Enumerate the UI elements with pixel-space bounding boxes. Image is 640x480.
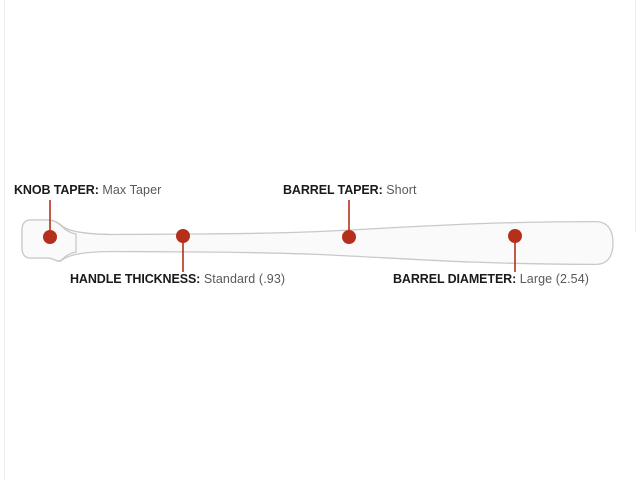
marker-dot-barrel-diameter[interactable] (508, 229, 522, 243)
callout-label-barrel-diameter: BARREL DIAMETER: Large (2.54) (393, 272, 589, 286)
callout-value-barrel-diameter: Large (2.54) (520, 272, 589, 286)
callout-label-handle-thickness: HANDLE THICKNESS: Standard (.93) (70, 272, 285, 286)
callout-label-barrel-taper: BARREL TAPER: Short (283, 183, 417, 197)
callout-key-knob-taper: KNOB TAPER: (14, 183, 99, 197)
callout-value-barrel-taper: Short (386, 183, 416, 197)
callout-key-barrel-taper: BARREL TAPER: (283, 183, 383, 197)
callout-value-knob-taper: Max Taper (102, 183, 161, 197)
bat-outline-path (22, 220, 613, 264)
bat-silhouette (22, 220, 613, 264)
marker-dot-barrel-taper[interactable] (342, 230, 356, 244)
callout-key-handle-thickness: HANDLE THICKNESS: (70, 272, 200, 286)
bat-spec-diagram-canvas: KNOB TAPER: Max Taper BARREL TAPER: Shor… (0, 0, 640, 480)
marker-dot-knob-taper[interactable] (43, 230, 57, 244)
callout-key-barrel-diameter: BARREL DIAMETER: (393, 272, 516, 286)
marker-dot-handle-thickness[interactable] (176, 229, 190, 243)
callout-label-knob-taper: KNOB TAPER: Max Taper (14, 183, 161, 197)
bat-diagram-svg (0, 0, 640, 480)
callout-value-handle-thickness: Standard (.93) (204, 272, 285, 286)
